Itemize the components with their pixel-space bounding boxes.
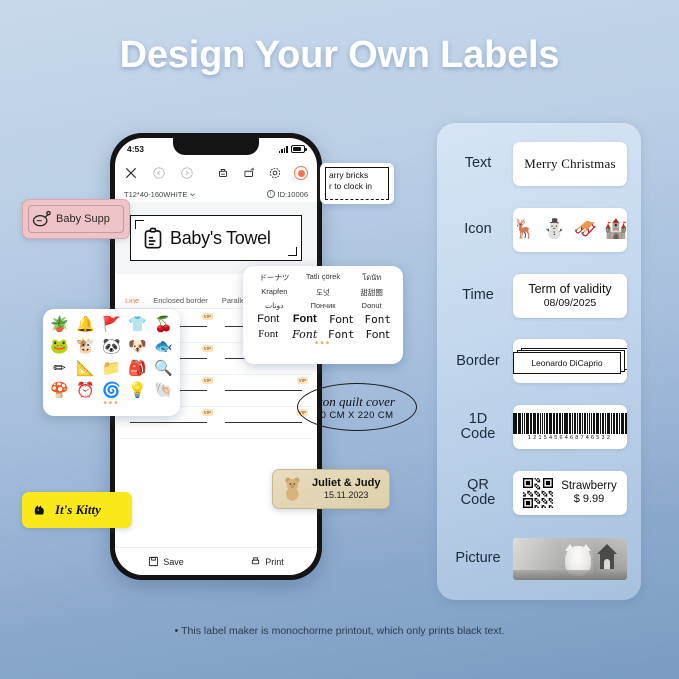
- sticker-baby-supplies[interactable]: Baby Supp: [22, 199, 130, 239]
- icon-grid[interactable]: 🪴🔔🚩👕🍒🐸🐮🐼🐶🐟✏📐📁🎒🔍🍄⏰🌀💡🐚: [47, 314, 176, 401]
- print-head-icon[interactable]: [216, 166, 230, 180]
- feature-preview-barcode: 1215456468746532: [513, 405, 627, 449]
- font-lang-th[interactable]: โดนัท: [347, 272, 396, 284]
- feature-label-text: Text: [451, 156, 505, 171]
- baby-bottle-icon: [31, 209, 51, 229]
- snowman-icon: ⛄: [543, 220, 567, 239]
- feature-row-text: Text Merry Christmas: [451, 139, 627, 189]
- model-bar: T12*40-160WHITE i ID:10006: [115, 186, 317, 202]
- pencil-icon[interactable]: ✏: [47, 358, 72, 379]
- font-lang-row-3: دونات Пончик Donut: [250, 301, 396, 310]
- teddy-bear-icon: [278, 474, 308, 504]
- feature-row-border: Border Leonardo DiCaprio: [451, 336, 627, 386]
- barcode-digits: 1215456468746532: [528, 435, 612, 441]
- vip-badge: VIP: [297, 377, 308, 384]
- info-icon[interactable]: i: [267, 190, 275, 198]
- feature-row-icon: Icon 🦌 ⛄ 🛷 🏰: [451, 205, 627, 255]
- merry-christmas-text: Merry Christmas: [524, 156, 615, 172]
- redo-icon[interactable]: [180, 166, 194, 180]
- label-out-icon[interactable]: [242, 166, 256, 180]
- font-lang-ja[interactable]: ドーナツ: [250, 272, 299, 284]
- chevron-down-icon[interactable]: [189, 191, 196, 198]
- panda-face-icon[interactable]: 🐼: [99, 336, 124, 357]
- frog-face-icon[interactable]: 🐸: [47, 336, 72, 357]
- feature-preview-text: Merry Christmas: [513, 142, 627, 186]
- black-cat-icon: [30, 501, 50, 519]
- save-button[interactable]: Save: [148, 556, 184, 567]
- font-sample-8[interactable]: Font: [360, 328, 397, 341]
- save-label: Save: [163, 557, 184, 567]
- tab-enclosed-border[interactable]: Enclosed border: [153, 296, 208, 305]
- page-title: Design Your Own Labels: [0, 34, 679, 77]
- bullet-icon: •: [175, 625, 179, 637]
- feature-row-1d-code: 1D Code 1215456468746532: [451, 402, 627, 452]
- save-icon: [148, 556, 159, 567]
- clipboard-icon[interactable]: [143, 227, 163, 250]
- feature-label-qr-code: QR Code: [451, 478, 505, 508]
- tab-line[interactable]: Line: [125, 296, 139, 305]
- border-text: Leonardo DiCaprio: [531, 358, 602, 368]
- print-icon: [250, 556, 261, 567]
- feature-preview-border: Leonardo DiCaprio: [513, 339, 627, 383]
- qr-product-name: Strawberry: [561, 480, 617, 493]
- vip-badge: VIP: [202, 345, 213, 352]
- backpack-icon[interactable]: 🎒: [125, 358, 150, 379]
- close-icon[interactable]: [124, 166, 138, 180]
- castle-icon: 🏰: [604, 220, 627, 239]
- border-sheet-front: Leonardo DiCaprio: [513, 352, 621, 374]
- sticker-oval-line2: 0 CM X 220 CM: [321, 410, 394, 421]
- feature-preview-qr: Strawberry $ 9.99: [513, 471, 627, 515]
- record-icon[interactable]: [294, 166, 308, 180]
- font-sample-1[interactable]: Font: [250, 313, 287, 326]
- feature-label-picture: Picture: [451, 551, 505, 566]
- signal-icon: [279, 146, 288, 153]
- feature-row-picture: Picture: [451, 534, 627, 584]
- font-picker-panel[interactable]: ドーナツ Tatlı çörek โดนัท Krapfen 도넛 甜甜圈 دو…: [243, 266, 403, 364]
- font-lang-zh[interactable]: 甜甜圈: [347, 287, 396, 298]
- font-sample-row-1: Font Font Font Font: [250, 313, 396, 326]
- font-lang-ar[interactable]: دونات: [250, 301, 299, 310]
- label-model-name[interactable]: T12*40-160WHITE: [124, 190, 187, 199]
- reindeer-icon: 🦌: [513, 220, 536, 239]
- magnifier-icon[interactable]: 🔍: [151, 358, 176, 379]
- feature-label-icon: Icon: [451, 222, 505, 237]
- icon-picker-panel[interactable]: 🪴🔔🚩👕🍒🐸🐮🐼🐶🐟✏📐📁🎒🔍🍄⏰🌀💡🐚 •••: [43, 309, 180, 416]
- template-item[interactable]: VIP: [216, 375, 311, 407]
- battery-icon: [291, 145, 305, 153]
- teddy-name: Juliet & Judy: [312, 477, 380, 490]
- sticker-white-line2: r to clock in: [329, 181, 385, 192]
- icon-panel-pager: •••: [47, 401, 176, 407]
- phone-notch: [173, 138, 259, 155]
- sticker-white-line1: arry bricks: [329, 170, 385, 181]
- sleigh-icon: 🛷: [574, 220, 598, 239]
- font-sample-4[interactable]: Font: [360, 313, 397, 326]
- barcode-bars: [513, 413, 627, 434]
- status-time: 4:53: [127, 144, 144, 154]
- qr-product-price: $ 9.99: [574, 493, 605, 506]
- font-lang-row-2: Krapfen 도넛 甜甜圈: [250, 287, 396, 298]
- feature-label-time: Time: [451, 288, 505, 303]
- print-label: Print: [265, 557, 284, 567]
- feature-row-qr-code: QR Code Strawberry $ 9.99: [451, 468, 627, 518]
- feature-preview-picture: [513, 537, 627, 581]
- feature-preview-time: Term of validity 08/09/2025: [513, 274, 627, 318]
- feature-label-1d-code: 1D Code: [451, 412, 505, 442]
- label-canvas[interactable]: Baby's Towel: [130, 215, 302, 261]
- font-lang-row-1: ドーナツ Tatlı çörek โดนัท: [250, 272, 396, 284]
- font-sample-2[interactable]: Font: [287, 313, 324, 326]
- font-lang-en[interactable]: Donut: [347, 301, 396, 310]
- footer-text: This label maker is monochorme printout,…: [181, 625, 504, 637]
- validity-date: 08/09/2025: [544, 297, 597, 309]
- label-canvas-area[interactable]: Baby's Towel: [115, 202, 317, 274]
- gear-icon[interactable]: [268, 166, 282, 180]
- sticker-quilt-cover[interactable]: ton quilt cover 0 CM X 220 CM: [297, 383, 417, 431]
- undo-icon[interactable]: [152, 166, 166, 180]
- feature-panel: Text Merry Christmas Icon 🦌 ⛄ 🛷 🏰 Time T…: [437, 123, 641, 600]
- bottom-action-bar[interactable]: Save Print: [115, 547, 317, 575]
- compass-icon[interactable]: 📐: [73, 358, 98, 379]
- template-item[interactable]: VIP: [216, 407, 311, 439]
- font-sample-3[interactable]: Font: [323, 313, 360, 326]
- alarm-clock-icon[interactable]: ⏰: [73, 380, 98, 401]
- sticker-its-kitty[interactable]: It's Kitty: [22, 492, 132, 528]
- font-sample-5[interactable]: Font: [250, 328, 287, 341]
- kitten-photo: [513, 538, 627, 580]
- font-panel-pager: •••: [250, 341, 396, 347]
- feature-preview-icon: 🦌 ⛄ 🛷 🏰: [513, 208, 627, 252]
- font-lang-tr[interactable]: Tatlı çörek: [299, 272, 348, 284]
- cherry-icon[interactable]: 🍒: [151, 314, 176, 335]
- font-lang-ko[interactable]: 도넛: [299, 287, 348, 298]
- feature-row-time: Time Term of validity 08/09/2025: [451, 271, 627, 321]
- sticker-oval-line1: ton quilt cover: [319, 394, 395, 410]
- shirt-icon[interactable]: 👕: [125, 314, 150, 335]
- label-canvas-text[interactable]: Baby's Towel: [170, 228, 271, 249]
- plant-pot-icon[interactable]: 🪴: [47, 314, 72, 335]
- cow-face-icon[interactable]: 🐮: [73, 336, 98, 357]
- print-button[interactable]: Print: [250, 556, 284, 567]
- bell-icon[interactable]: 🔔: [73, 314, 98, 335]
- shell-icon[interactable]: 🐚: [151, 380, 176, 401]
- folder-flag-icon[interactable]: 🚩: [99, 314, 124, 335]
- validity-title: Term of validity: [528, 282, 611, 296]
- teddy-date: 15.11.2023: [324, 490, 368, 501]
- sticker-carry-bricks[interactable]: arry bricks r to clock in: [320, 163, 394, 204]
- fish-icon[interactable]: 🐟: [151, 336, 176, 357]
- font-lang-de[interactable]: Krapfen: [250, 287, 299, 298]
- file-folder-icon[interactable]: 📁: [99, 358, 124, 379]
- vip-badge: VIP: [202, 313, 213, 320]
- editor-toolbar: [115, 160, 317, 186]
- desk-lamp-icon[interactable]: 💡: [125, 380, 150, 401]
- feature-label-border: Border: [451, 354, 505, 369]
- dog-face-icon[interactable]: 🐶: [125, 336, 150, 357]
- font-lang-ru[interactable]: Пончик: [299, 301, 348, 310]
- sticker-yellow-text: It's Kitty: [55, 502, 101, 518]
- sticker-pink-text: Baby Supp: [56, 213, 110, 225]
- mushroom-icon[interactable]: 🍄: [47, 380, 72, 401]
- label-id: ID:10006: [278, 190, 308, 199]
- vip-badge: VIP: [202, 409, 213, 416]
- footer-note: • This label maker is monochorme printou…: [0, 625, 679, 637]
- sticker-juliet-judy[interactable]: Juliet & Judy 15.11.2023: [272, 469, 390, 509]
- vip-badge: VIP: [202, 377, 213, 384]
- qr-code-icon: [523, 478, 553, 508]
